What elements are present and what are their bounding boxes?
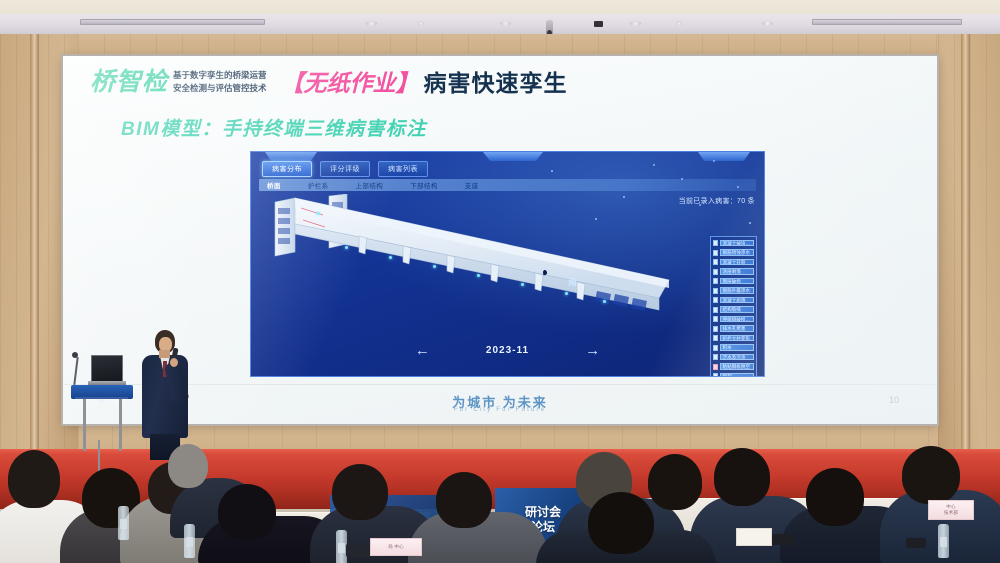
ceiling-spotlight-icon [366,21,377,26]
microphone-icon [72,352,78,358]
slide-subtitle: BIM模型：手持终端三维病害标注 [121,114,427,141]
presenter [142,330,188,458]
ceiling-spotlight-icon [676,21,682,26]
water-bottle [184,524,195,558]
laptop-screen [91,355,123,382]
brand-subtitle-line2: 安全检测与评估管控技术 [173,83,267,96]
list-item[interactable]: 涂层剥落 [713,268,754,276]
slide-page-number: 10 [889,395,899,405]
list-item-checkbox[interactable] [713,288,718,294]
tab-disease-distribution[interactable]: 病害分布 [262,161,312,177]
list-item[interactable]: 伸缩缝破损… [713,315,754,323]
ceiling-soffit [0,14,1000,36]
podium: 会议 [71,377,133,455]
hotspot-marker[interactable] [521,283,524,286]
list-item[interactable]: 护栏立柱变形 [713,334,754,342]
list-item-checkbox[interactable] [713,278,718,284]
list-item-checkbox[interactable] [713,373,718,377]
list-item[interactable]: 粘贴钢板脱空 [713,363,754,371]
subnav-item-railing[interactable]: 护栏系 [308,180,329,190]
list-item[interactable]: 面层破损 [713,277,754,285]
water-bottle [938,524,949,558]
presenter-neck [159,350,170,358]
list-item[interactable]: 网裂 [713,372,754,377]
subnav-item-deck[interactable]: 桥面 [267,180,281,190]
subnav-item-bearing[interactable]: 支座 [465,180,479,190]
hotspot-marker[interactable] [603,300,606,303]
list-item[interactable]: 混凝土剥落 [713,296,754,304]
app-panel: 病害分布 评分评级 病害列表 桥面 护栏系 上部结构 下部结构 支座 当前已录入… [250,151,765,377]
list-item-label: 混凝土掉块… [720,240,755,247]
list-item-checkbox[interactable] [713,316,718,322]
list-item-checkbox[interactable] [713,259,718,265]
hotspot-marker[interactable] [345,246,348,249]
list-item-checkbox[interactable] [713,307,718,313]
list-item[interactable]: 混凝土掉块… [713,239,754,247]
ceiling-spotlight-icon [418,21,424,26]
wall-pilaster-right [961,34,970,464]
audience-head [332,464,388,520]
list-item[interactable]: 排水孔堵塞 [713,325,754,333]
list-item-label: 护栏立柱变形 [720,335,755,342]
headline-text: 病害快速孪生 [424,72,568,95]
hotspot-marker[interactable] [389,256,392,259]
ceiling-sensor-icon [594,21,603,27]
tab-disease-list[interactable]: 病害列表 [378,161,428,177]
audience-head [218,484,276,540]
subnav-item-superstructure[interactable]: 上部结构 [356,180,384,190]
audience-head [648,454,702,510]
list-item-label: 钢筋锈蚀渗水 [720,249,755,256]
next-arrow-icon[interactable]: → [585,343,600,358]
audience-head [436,472,492,528]
ceiling-vent-icon [812,19,962,25]
subnav-item-substructure[interactable]: 下部结构 [410,180,438,190]
brand-logo-text: 桥智检 [90,70,168,95]
slide-header: 桥智检 基于数字孪生的桥梁运营 安全检测与评估管控技术 【无纸作业】 病害快速孪… [90,70,568,95]
audience-head [168,444,208,488]
audience-head [8,450,60,508]
list-item-checkbox[interactable] [713,364,718,370]
audience-head [714,448,770,506]
date-label: 2023-11 [486,345,529,356]
name-card-text: 局 中心 [388,544,404,550]
list-item-checkbox[interactable] [713,326,718,332]
water-bottle [118,506,129,540]
panel-corner-accent [265,152,317,161]
footer-divider [63,384,937,385]
smartphone [772,534,794,545]
list-item-checkbox[interactable] [713,240,718,246]
name-card: 中心 技术部 [928,500,974,520]
audience-head [806,468,864,526]
list-item-label: 涂层剥落 [720,268,755,275]
app-tab-bar[interactable]: 病害分布 评分评级 病害列表 [262,161,428,177]
panel-corner-accent [698,152,750,161]
projection-screen: 桥智检 基于数字孪生的桥梁运营 安全检测与评估管控技术 【无纸作业】 病害快速孪… [63,56,937,424]
list-item-label: 伸缩缝破损… [720,316,755,323]
podium-leg [119,399,122,451]
podium-leg [83,399,86,451]
hotspot-marker[interactable] [565,292,568,295]
hotspot-marker[interactable] [433,265,436,268]
bim-3d-model-viewport[interactable]: 南 [251,194,764,334]
list-item-label: 面层破损 [720,278,755,285]
hotspot-marker[interactable] [477,274,480,277]
screenshot-root: 桥智检 基于数字孪生的桥梁运营 安全检测与评估管控技术 【无纸作业】 病害快速孪… [0,0,1000,563]
list-item-label: 混凝土剥落 [720,297,755,304]
list-item-checkbox[interactable] [713,250,718,256]
conference-banner-line1: 研讨会 [525,506,561,519]
list-item-label: 钢筋外露渗水 [720,287,755,294]
list-item-checkbox[interactable] [713,297,718,303]
notepad [736,528,772,546]
audience-head [902,446,960,504]
ceiling-vent-icon [80,19,265,25]
audience-head [588,492,654,554]
list-item[interactable]: 钢筋锈蚀渗水 [713,249,754,257]
list-item-label: 粘贴钢板脱空 [720,363,755,370]
prev-arrow-icon[interactable]: ← [415,343,430,358]
list-item-checkbox[interactable] [713,335,718,341]
panel-corner-accent [483,152,543,161]
presenter-hand [170,358,178,367]
orientation-label-south: 南 [568,275,577,288]
footer-slogan-en: For City For Future [63,407,937,413]
tab-score-rating[interactable]: 评分评级 [320,161,370,177]
ceiling-spotlight-icon [630,21,641,26]
podium-desktop: 会议 [71,385,133,399]
list-item-label: 网裂 [720,373,755,377]
ceiling-spotlight-icon [762,21,773,26]
brand-subtitle-line1: 基于数字孪生的桥梁运营 [173,70,267,83]
pier-frame-far [275,198,295,256]
ceiling-spotlight-icon [500,21,511,26]
list-item-label: 结构裂缝 [720,306,755,313]
name-card: 局 中心 [370,538,422,556]
brand-subtitle: 基于数字孪生的桥梁运营 安全检测与评估管控技术 [173,70,267,95]
list-item-label: 混凝土开裂 [720,259,755,266]
name-card-line2: 技术部 [944,510,958,516]
slide-surface: 桥智检 基于数字孪生的桥梁运营 安全检测与评估管控技术 【无纸作业】 病害快速孪… [63,56,937,424]
list-item[interactable]: 结构裂缝 [713,306,754,314]
hotspot-marker[interactable] [317,212,320,215]
list-item[interactable]: 混凝土开裂 [713,258,754,266]
headline-bracket-text: 【无纸作业】 [281,72,419,95]
list-item[interactable]: 钢筋外露渗水 [713,287,754,295]
list-item-checkbox[interactable] [713,269,718,275]
smartphone [906,538,926,548]
date-navigation-bar[interactable]: ← 2023-11 → [251,343,764,358]
bridge-model-svg [251,194,765,334]
wall-pilaster-left [30,34,39,464]
app-subnav-bar[interactable]: 桥面 护栏系 上部结构 下部结构 支座 [259,179,756,191]
list-item-label: 排水孔堵塞 [720,325,755,332]
